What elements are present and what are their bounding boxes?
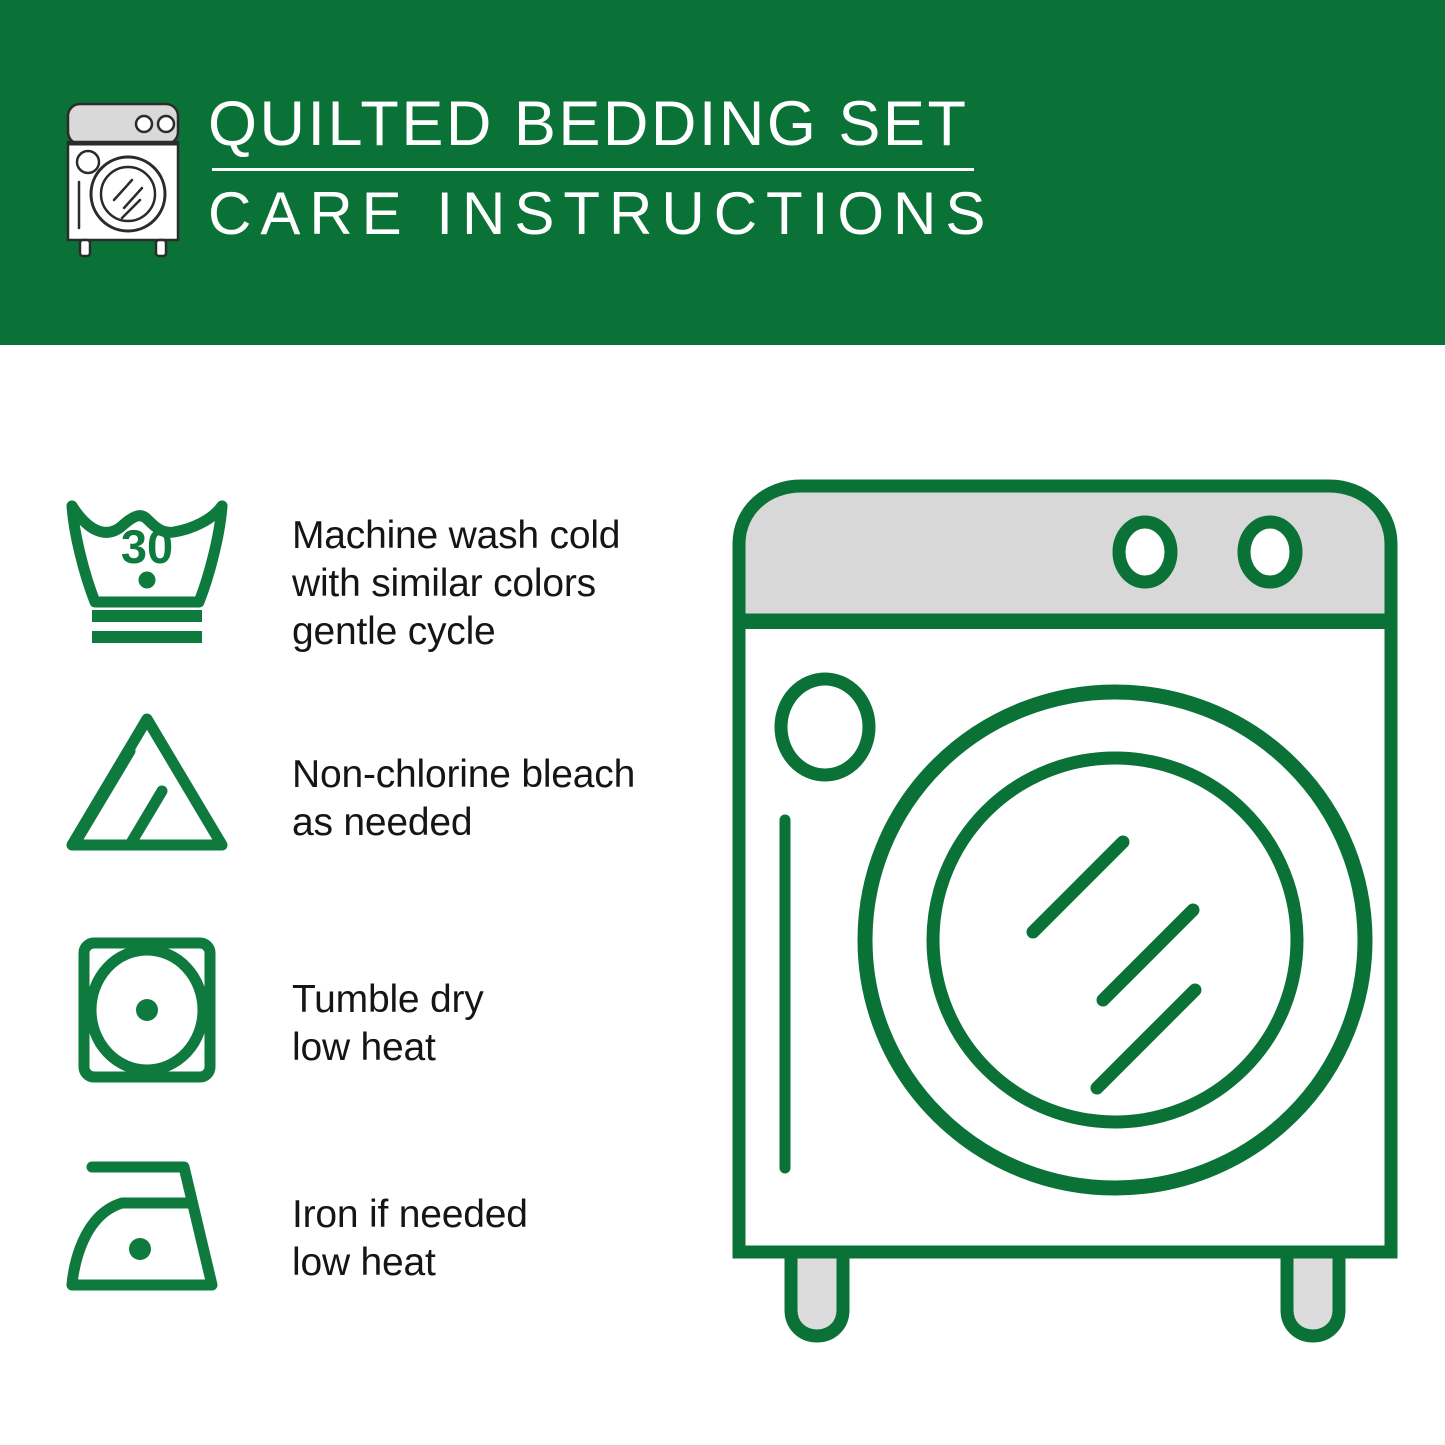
washing-machine-illustration [725, 470, 1405, 1370]
non-chlorine-bleach-triangle-icon [62, 705, 232, 865]
wash-dot [139, 572, 156, 589]
knob-right-icon[interactable] [1244, 522, 1296, 582]
care-instructions-page: QUILTED BEDDING SET CARE INSTRUCTIONS 30 [0, 0, 1445, 1445]
dispenser-button-icon[interactable] [781, 679, 869, 775]
instruction-label-machine-wash: Machine wash cold with similar colors ge… [292, 490, 620, 656]
leg-left [791, 1252, 843, 1336]
knob-left-icon[interactable] [1119, 522, 1171, 582]
iron-low-heat-icon [62, 1145, 232, 1305]
tumble-dry-low-icon [62, 930, 232, 1090]
wash-temperature-label: 30 [121, 520, 173, 573]
page-subtitle: CARE INSTRUCTIONS [208, 183, 994, 244]
instruction-row-tumble-dry: Tumble dry low heat [62, 930, 702, 1090]
washing-machine-icon [62, 100, 184, 260]
instruction-label-bleach: Non-chlorine bleach as needed [292, 705, 635, 847]
instruction-label-iron: Iron if needed low heat [292, 1145, 528, 1287]
instruction-label-tumble-dry: Tumble dry low heat [292, 930, 484, 1072]
instruction-row-bleach: Non-chlorine bleach as needed [62, 705, 702, 865]
tumble-dry-dot [136, 999, 158, 1021]
header-banner: QUILTED BEDDING SET CARE INSTRUCTIONS [0, 0, 1445, 345]
leg-right [1287, 1252, 1339, 1336]
iron-dot [129, 1238, 151, 1260]
page-title: QUILTED BEDDING SET [208, 92, 994, 156]
header-content: QUILTED BEDDING SET CARE INSTRUCTIONS [62, 92, 994, 260]
instruction-row-iron: Iron if needed low heat [62, 1145, 702, 1305]
instruction-row-machine-wash: 30 Machine wash cold with similar colors… [62, 490, 702, 656]
header-text-block: QUILTED BEDDING SET CARE INSTRUCTIONS [208, 92, 994, 244]
wash-tub-30-gentle-icon: 30 [62, 490, 232, 650]
title-divider [212, 168, 974, 171]
